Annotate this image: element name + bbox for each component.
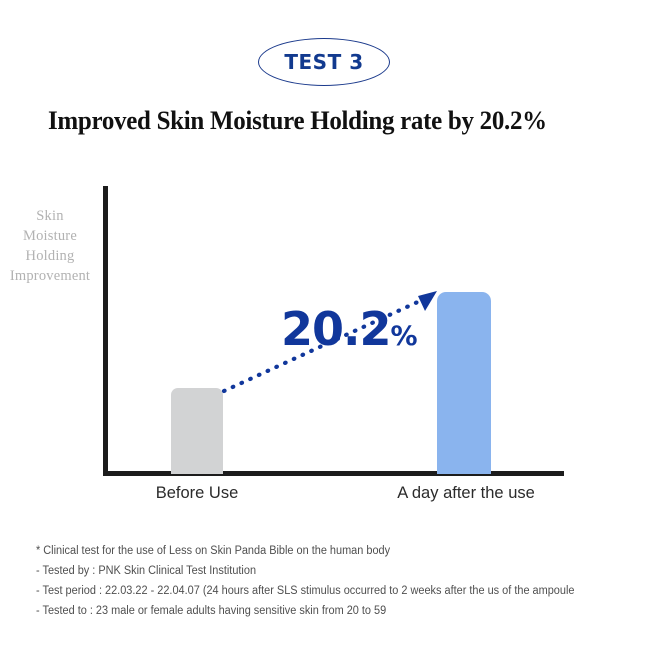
y-axis-label-line-4: Improvement [0, 266, 100, 286]
footnote-line-4: - Tested to : 23 male or female adults h… [36, 601, 616, 621]
bar-chart: Skin Moisture Holding Improvement 20.2% … [0, 0, 661, 520]
y-axis-label: Skin Moisture Holding Improvement [0, 206, 100, 286]
y-axis-label-line-1: Skin [0, 206, 100, 226]
footnote-line-3: - Test period : 22.03.22 - 22.04.07 (24 … [36, 581, 616, 601]
delta-number: 20.2 [281, 302, 391, 356]
y-axis-line [103, 186, 108, 476]
bar-a-day-after-the-use [437, 292, 491, 474]
footnote-line-2: - Tested by : PNK Skin Clinical Test Ins… [36, 561, 616, 581]
delta-annotation: 20.2% [281, 306, 417, 352]
footnote-line-1: * Clinical test for the use of Less on S… [36, 541, 616, 561]
footnotes: * Clinical test for the use of Less on S… [36, 541, 646, 621]
y-axis-label-line-2: Moisture [0, 226, 100, 246]
delta-unit: % [391, 321, 418, 352]
y-axis-label-line-3: Holding [0, 246, 100, 266]
bar-before-use [171, 388, 223, 474]
x-tick-label-a-day-after-the-use: A day after the use [379, 484, 553, 503]
x-tick-label-before-use: Before Use [124, 484, 270, 503]
